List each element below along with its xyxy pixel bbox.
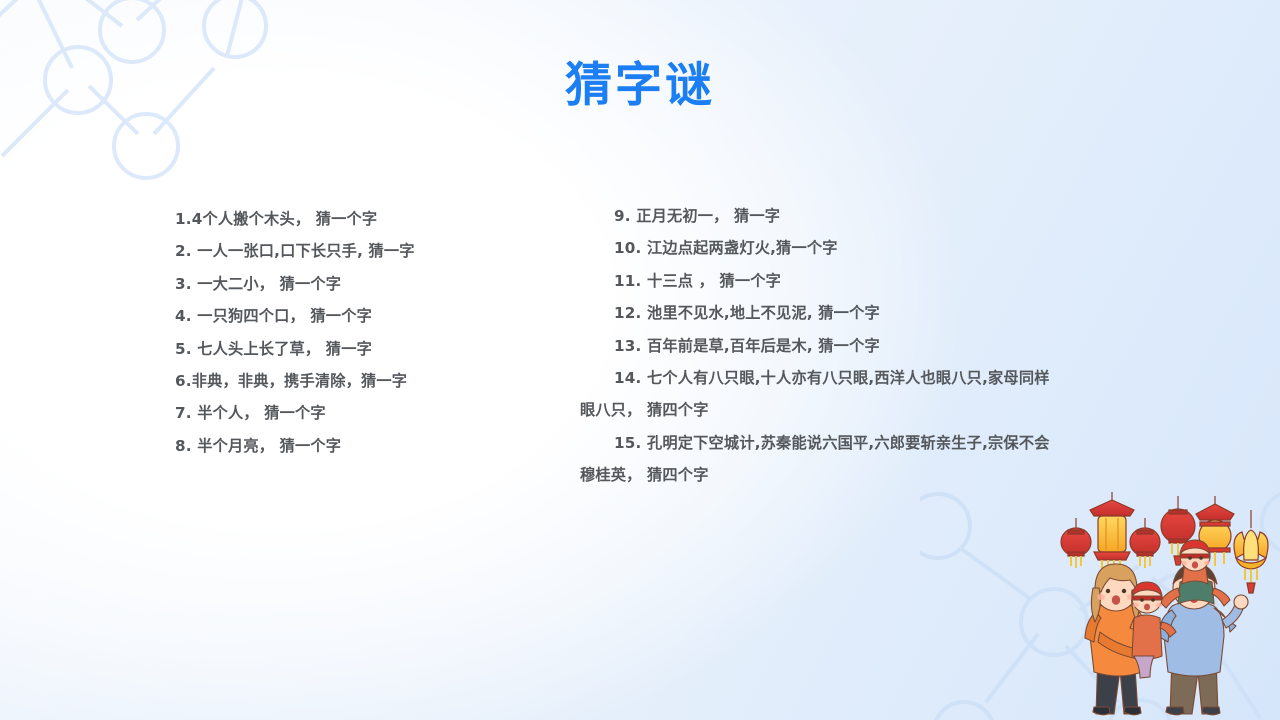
riddle-item: 9. 正月无初一， 猜一字 [580, 200, 1050, 232]
riddle-item: 13. 百年前是草,百年后是木, 猜一个字 [580, 330, 1050, 362]
family-group [1085, 540, 1248, 715]
lotus-lantern [1234, 510, 1268, 593]
riddle-item: 10. 江边点起两盏灯火,猜一个字 [580, 232, 1050, 264]
riddle-item: 1.4个人搬个木头， 猜一个字 [175, 203, 575, 235]
riddle-item: 3. 一大二小， 猜一个字 [175, 268, 575, 300]
riddle-item: 8. 半个月亮， 猜一个字 [175, 430, 575, 462]
riddle-item: 5. 七人头上长了草， 猜一字 [175, 333, 575, 365]
riddle-item: 6.非典，非典，携手清除，猜一字 [175, 365, 575, 397]
riddle-item: 11. 十三点 ， 猜一个字 [580, 265, 1050, 297]
page-title: 猜字谜 [0, 58, 1280, 113]
riddle-item: 2. 一人一张口,口下长只手, 猜一字 [175, 235, 575, 267]
round-lantern-small-left [1061, 518, 1091, 568]
riddle-item: 7. 半个人， 猜一个字 [175, 397, 575, 429]
family-with-lanterns-illustration [1060, 488, 1274, 720]
round-lantern-small-right [1130, 518, 1160, 568]
riddle-item: 4. 一只狗四个口， 猜一个字 [175, 300, 575, 332]
riddle-list-left: 1.4个人搬个木头， 猜一个字 2. 一人一张口,口下长只手, 猜一字 3. 一… [175, 203, 575, 462]
riddle-item: 15. 孔明定下空城计,苏秦能说六国平,六郎要斩亲生子,宗保不会穆桂英， 猜四个… [580, 427, 1050, 492]
riddle-item: 14. 七个人有八只眼,十人亦有八只眼,西洋人也眼八只,家母同样眼八只， 猜四个… [580, 362, 1050, 427]
lanterns-group [1061, 492, 1268, 593]
riddle-list-right: 9. 正月无初一， 猜一字 10. 江边点起两盏灯火,猜一个字 11. 十三点 … [580, 200, 1050, 492]
riddle-item: 12. 池里不见水,地上不见泥, 猜一个字 [580, 297, 1050, 329]
slide-canvas: 猜字谜 1.4个人搬个木头， 猜一个字 2. 一人一张口,口下长只手, 猜一字 … [0, 0, 1280, 720]
